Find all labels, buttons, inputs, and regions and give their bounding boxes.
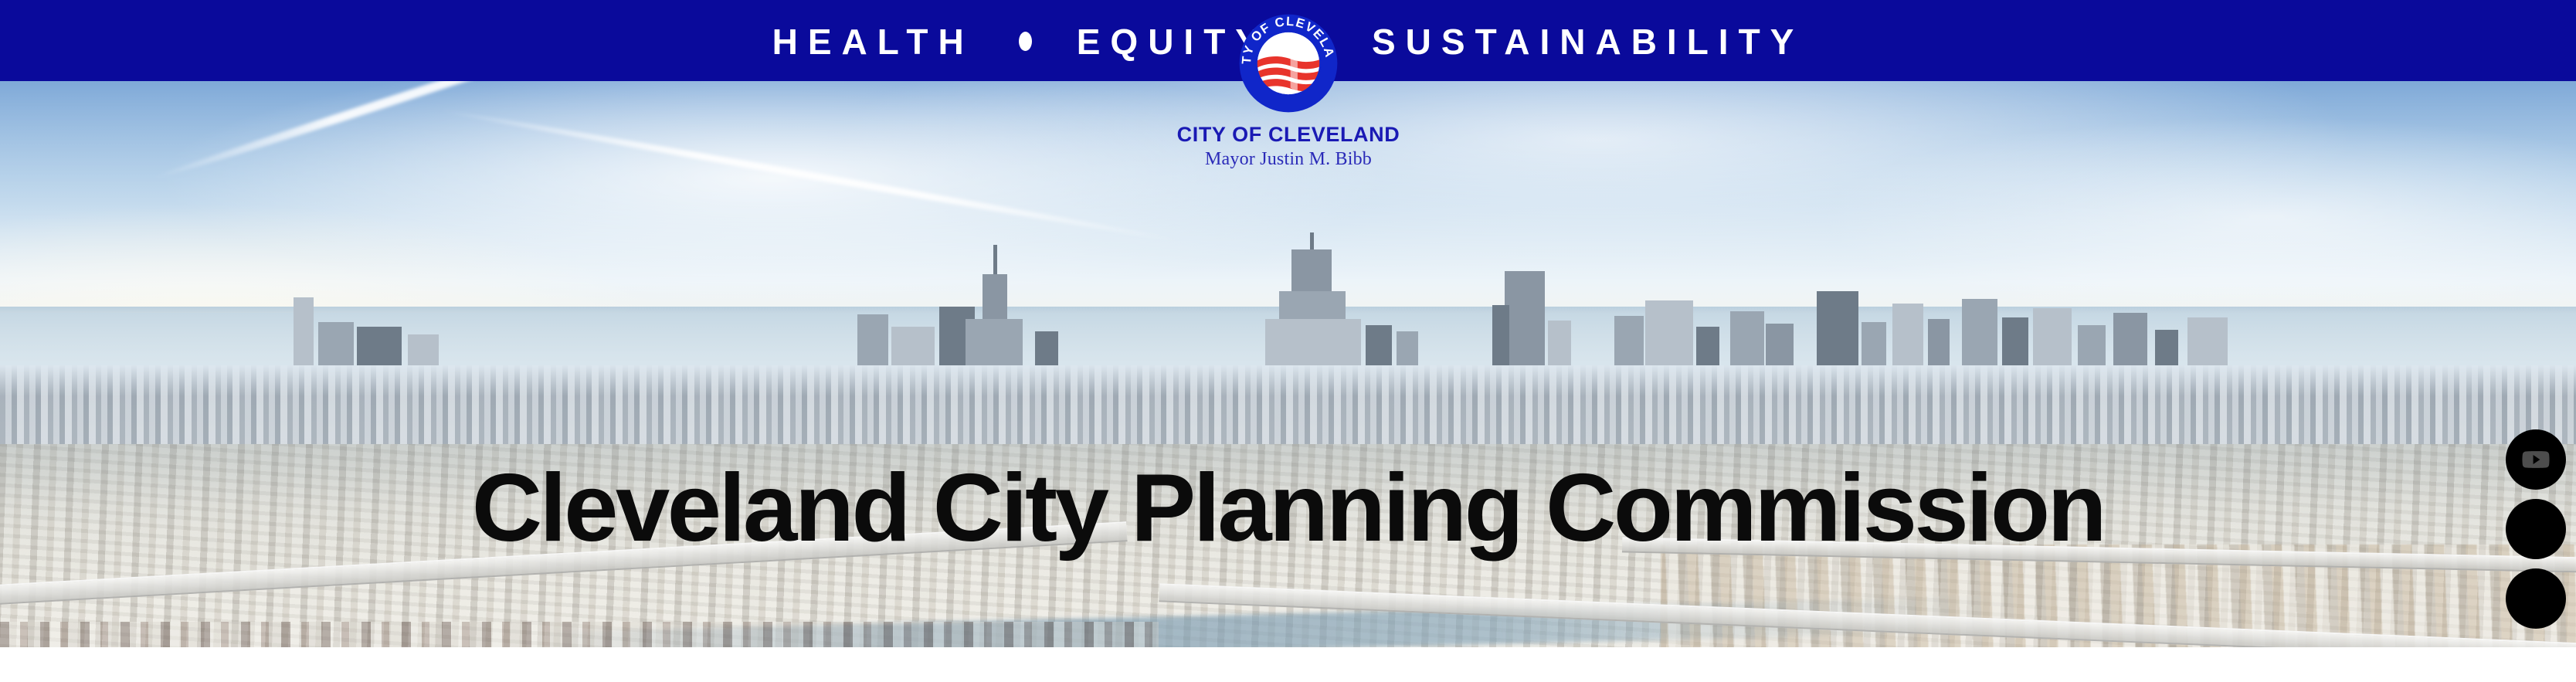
social-link-instagram[interactable] (2506, 499, 2566, 559)
mayor-name-label: Mayor Justin M. Bibb (1118, 149, 1458, 169)
social-link-youtube[interactable] (2506, 429, 2566, 490)
city-name-label: CITY OF CLEVELAND (1118, 124, 1458, 145)
social-link-facebook[interactable] (2506, 568, 2566, 629)
page-title: Cleveland City Planning Commission (0, 460, 2576, 556)
tagline-word-health: HEALTH (772, 24, 974, 59)
city-of-cleveland-seal-icon: CITY OF CLEVELAND OHIO (1237, 12, 1339, 114)
midground-fade (0, 365, 2576, 396)
social-links (2505, 429, 2567, 629)
city-lockup: CITY OF CLEVELAND OHIO CITY (1118, 12, 1458, 170)
facebook-icon (2518, 581, 2554, 616)
residential-neighborhood (0, 622, 1159, 647)
youtube-icon (2518, 442, 2554, 477)
instagram-icon (2518, 511, 2554, 547)
bullet-dot-icon (1019, 32, 1032, 51)
bottom-white-strip (0, 647, 2576, 682)
